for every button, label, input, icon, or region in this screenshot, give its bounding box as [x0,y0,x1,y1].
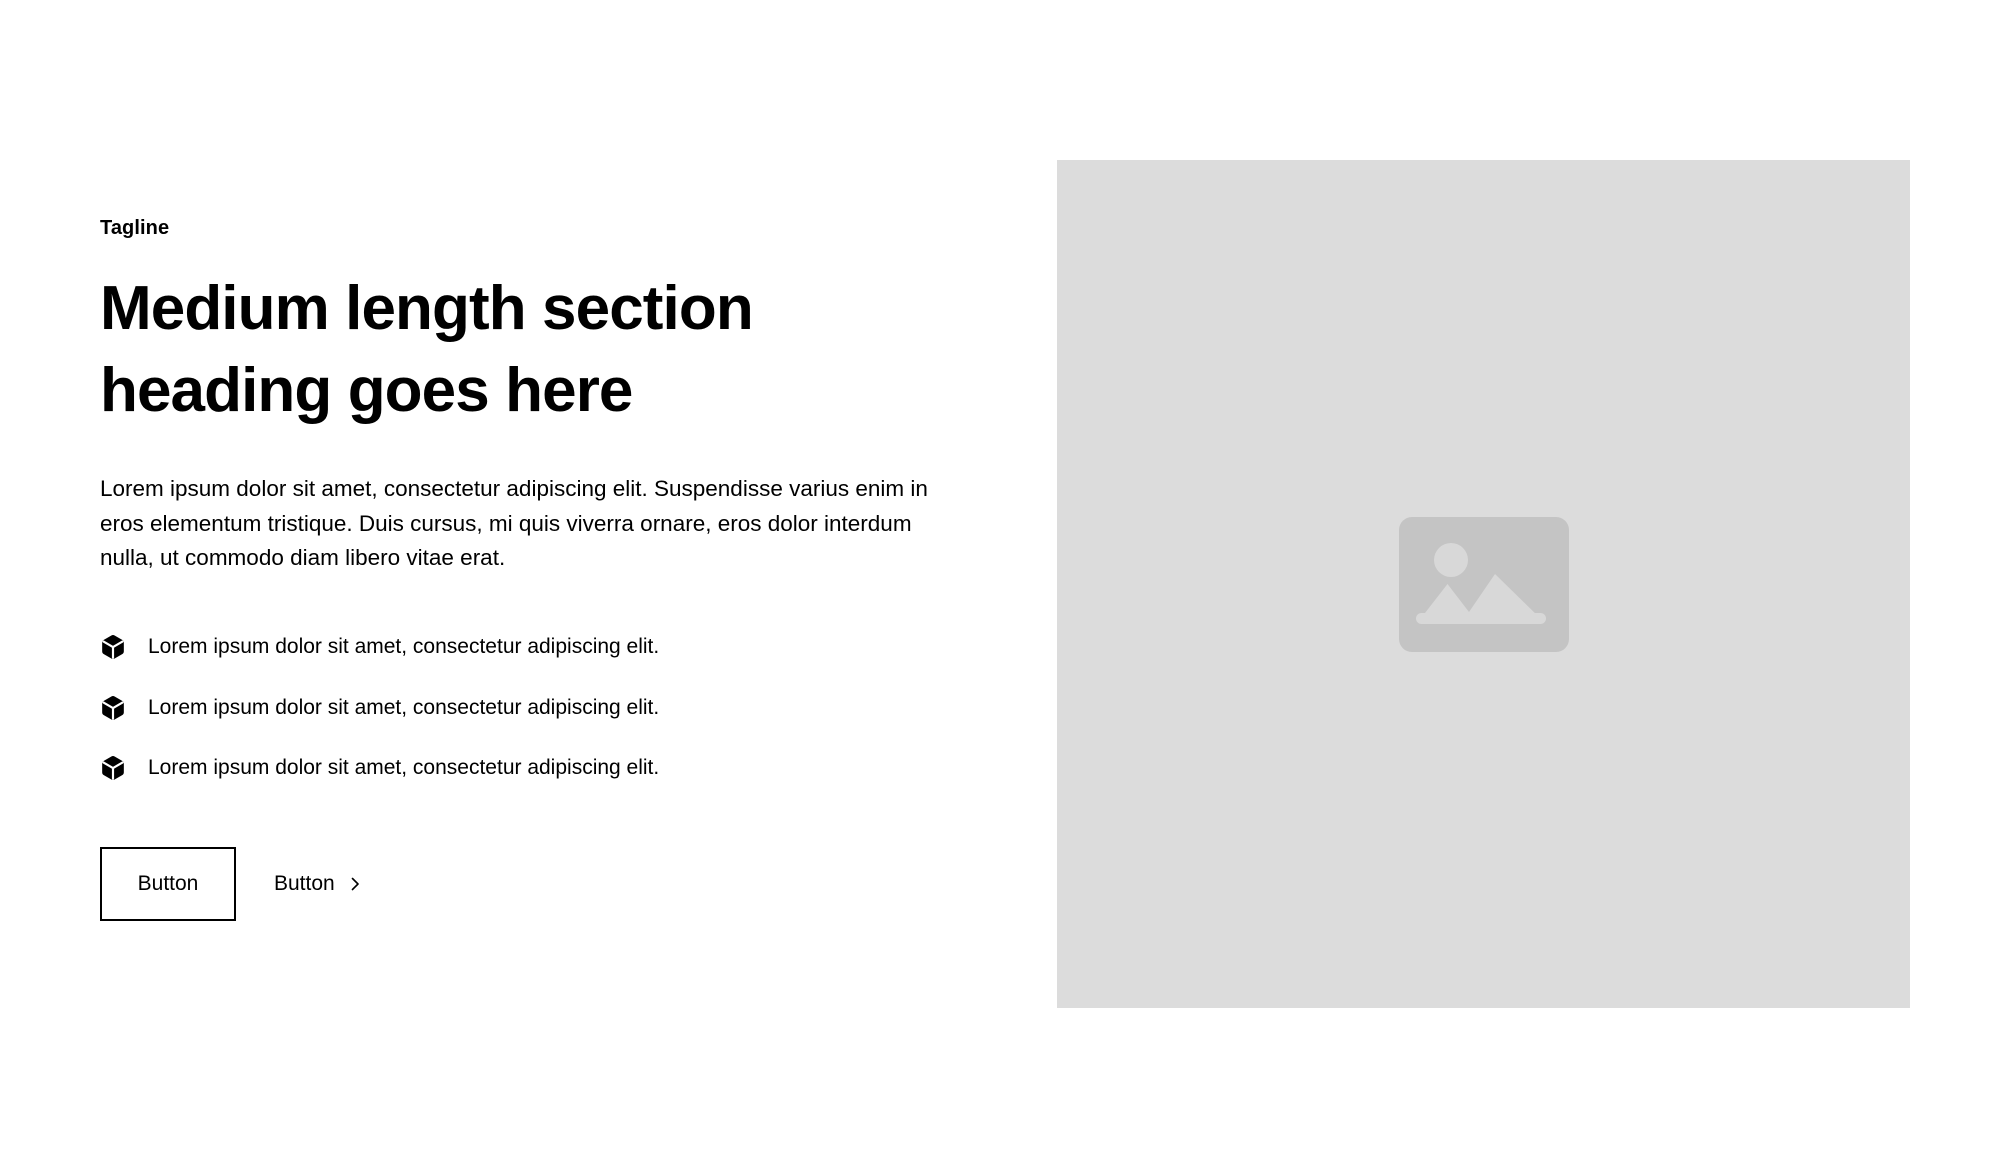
list-item-label: Lorem ipsum dolor sit amet, consectetur … [148,692,659,724]
primary-button[interactable]: Button [100,847,236,921]
page-title: Medium length section heading goes here [100,268,840,432]
list-item-label: Lorem ipsum dolor sit amet, consectetur … [148,752,659,784]
box-icon [100,634,126,660]
list-item: Lorem ipsum dolor sit amet, consectetur … [100,752,950,784]
list-item: Lorem ipsum dolor sit amet, consectetur … [100,692,950,724]
body-paragraph: Lorem ipsum dolor sit amet, consectetur … [100,472,932,577]
secondary-button[interactable]: Button [258,847,379,921]
chevron-right-icon [347,876,363,892]
image-placeholder-icon [1399,517,1569,652]
tagline: Tagline [100,213,950,243]
content-column: Tagline Medium length section heading go… [100,213,950,921]
box-icon [100,695,126,721]
box-icon [100,755,126,781]
action-button-row: Button Button [100,847,950,921]
feature-list: Lorem ipsum dolor sit amet, consectetur … [100,631,950,784]
section-layout: Tagline Medium length section heading go… [0,0,2000,1163]
list-item-label: Lorem ipsum dolor sit amet, consectetur … [148,631,659,663]
image-placeholder-panel [1057,160,1910,1008]
list-item: Lorem ipsum dolor sit amet, consectetur … [100,631,950,663]
secondary-button-label: Button [274,873,335,894]
